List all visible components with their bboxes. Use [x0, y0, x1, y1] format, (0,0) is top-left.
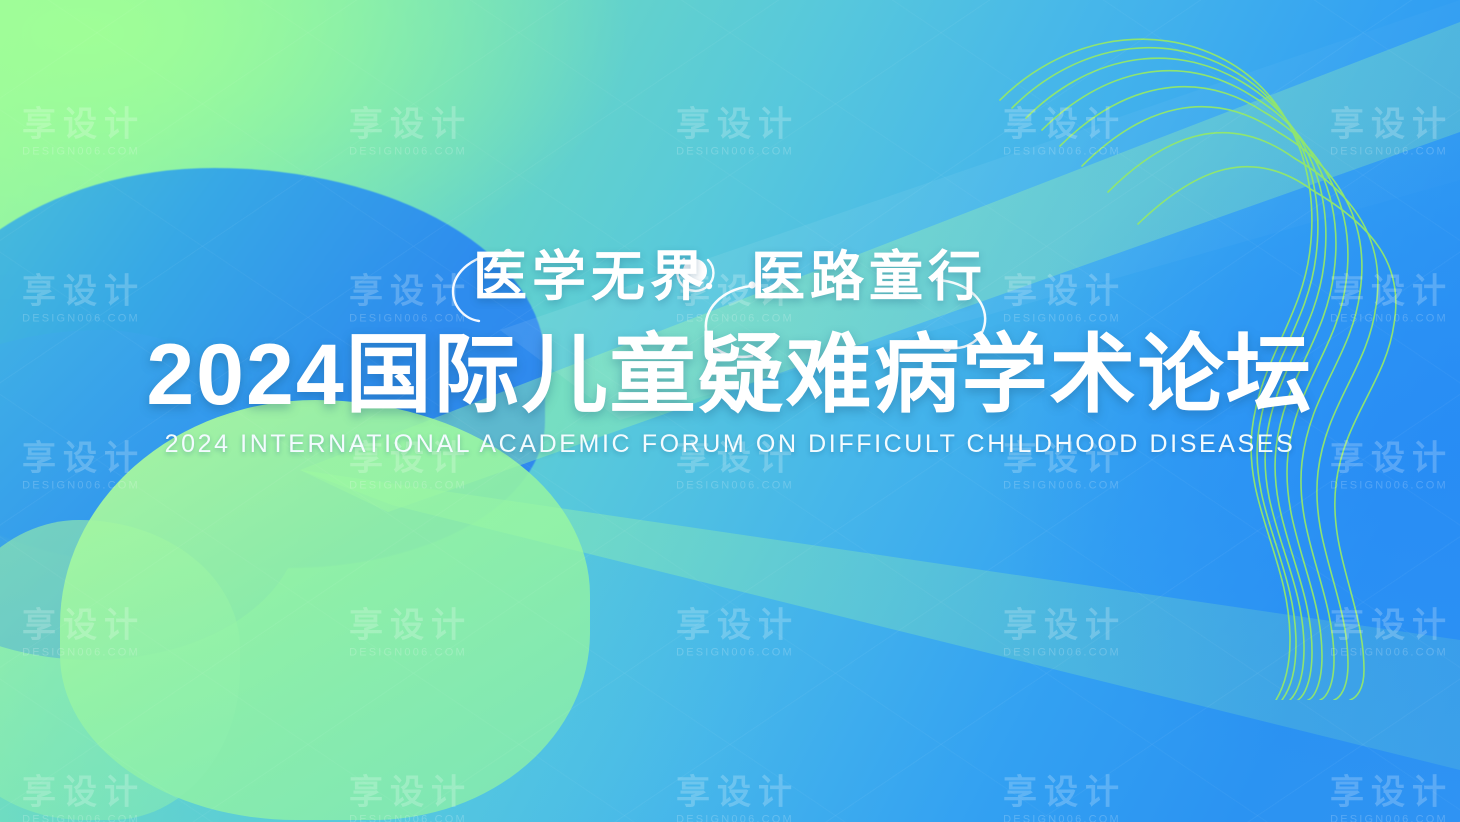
poster-title-en: 2024 INTERNATIONAL ACADEMIC FORUM ON DIF… [0, 432, 1460, 457]
poster-text-block: 医学无界医路童行 2024国际儿童疑难病学术论坛 2024 INTERNATIO… [0, 250, 1460, 457]
poster-subtitle-cn-right: 医路童行 [751, 247, 987, 307]
poster-canvas: 医学无界医路童行 2024国际儿童疑难病学术论坛 2024 INTERNATIO… [0, 0, 1460, 822]
poster-subtitle-cn-left: 医学无界 [473, 247, 709, 307]
poster-subtitle-cn: 医学无界医路童行 [0, 250, 1460, 304]
poster-title-cn: 2024国际儿童疑难病学术论坛 [0, 330, 1460, 420]
